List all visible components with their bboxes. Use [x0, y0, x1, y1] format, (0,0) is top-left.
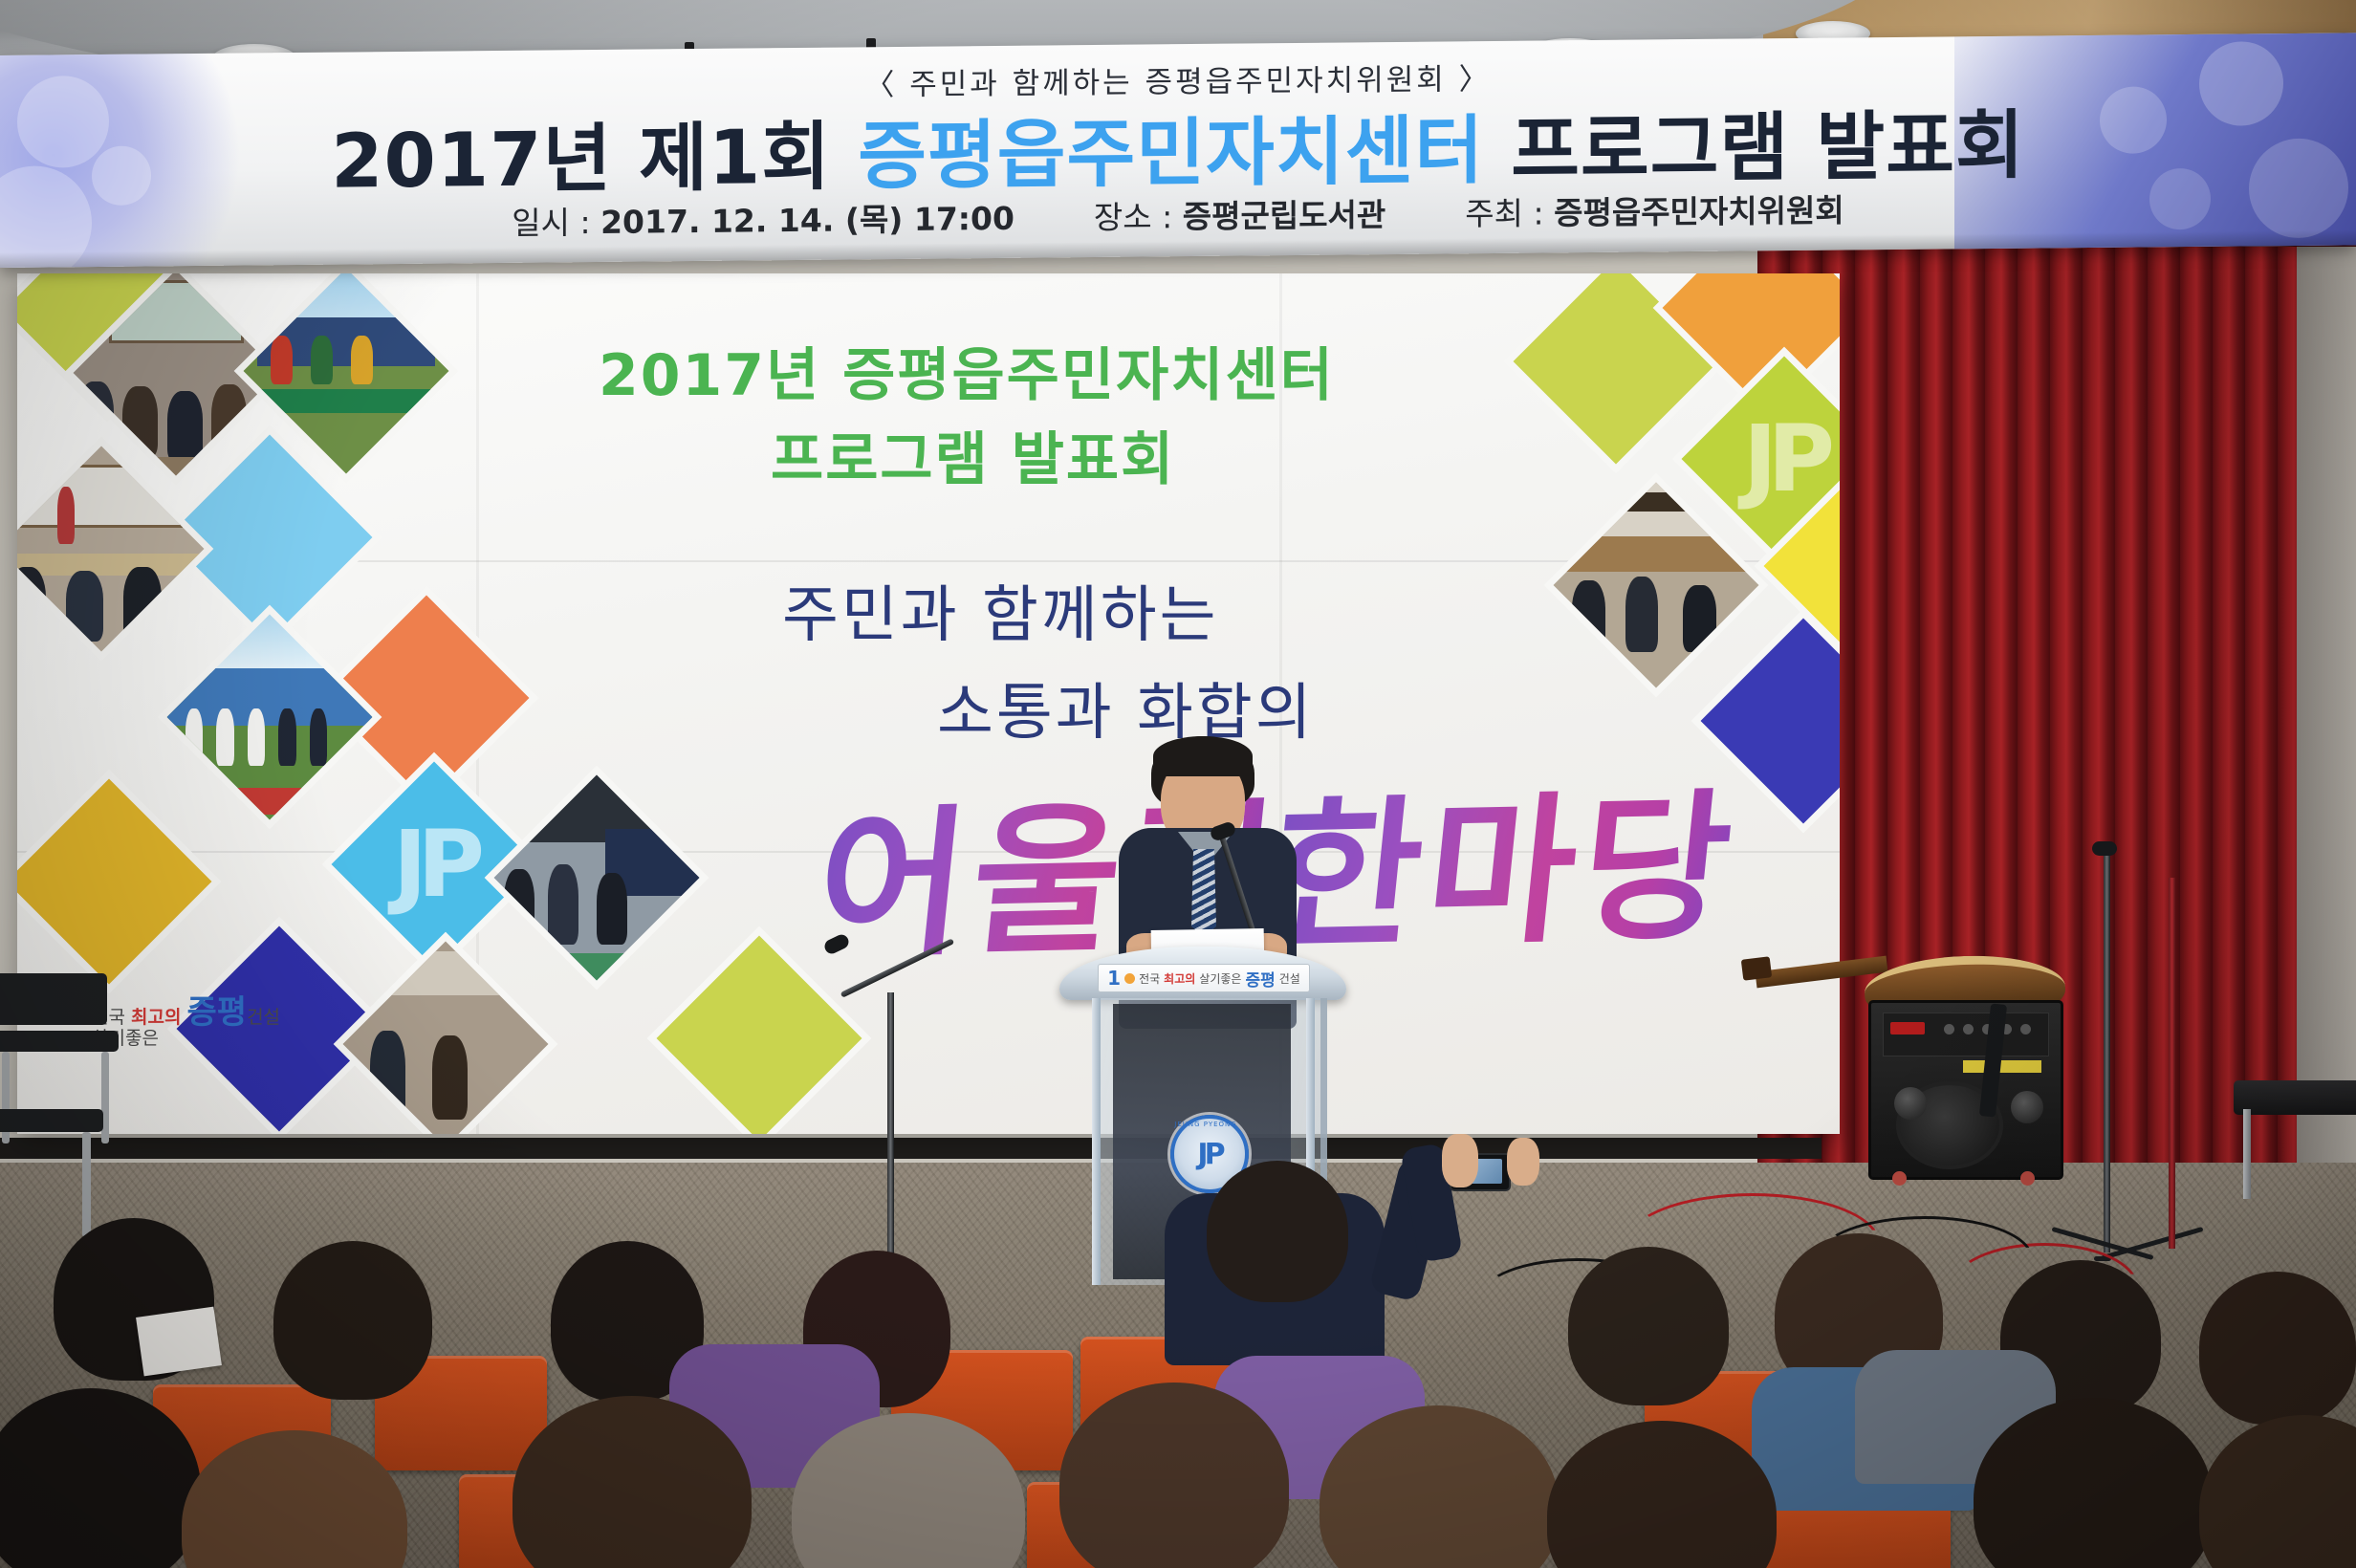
banner-title-highlight: 증평읍주민자치센터: [858, 108, 1484, 200]
amp-knob: [1963, 1024, 1974, 1034]
jp-logo-mark: JP: [1743, 405, 1825, 512]
amp-control-panel: [1883, 1013, 2049, 1056]
podium-logo-red: 최고의: [1164, 970, 1195, 987]
podium-emblem-text: JEUNG PYEONG: [1170, 1121, 1241, 1128]
banner-diamond-photo: [494, 775, 700, 981]
banner-diamond-photo: [343, 942, 549, 1134]
stage-chair: [0, 1052, 105, 1166]
speaker-necktie-visible: [1191, 849, 1216, 937]
backdrop-navy-line1: 주민과 함께하는: [782, 566, 1219, 654]
amp-label-strip: [1963, 1060, 2041, 1073]
podium-emblem-mark: JP: [1197, 1138, 1221, 1171]
chair-leg: [82, 1132, 91, 1237]
amp-tweeter: [2011, 1091, 2043, 1123]
podium-logo-dot: [1124, 973, 1135, 984]
microphone-head: [2092, 841, 2117, 856]
audience-head: [2199, 1272, 2356, 1425]
logo-text-blue: 증평: [187, 993, 248, 1032]
audience-handout-paper: [136, 1307, 222, 1377]
amp-knob: [1944, 1024, 1954, 1034]
banner-diamond-photo: [17, 446, 204, 652]
pa-amplifier: [1868, 1000, 2063, 1180]
logo-text-gray: 건설: [247, 1007, 280, 1028]
podium-logo-top: 전국: [1139, 970, 1160, 987]
chair-backrest: [0, 973, 107, 1025]
amp-caster-wheel: [1892, 1171, 1907, 1186]
speaker-hair-top: [1153, 736, 1253, 776]
mic-stand: [2169, 878, 2175, 1249]
podium-logo-number: 1: [1107, 967, 1121, 990]
banner-host-value: 증평읍주민자치위원회: [1554, 191, 1844, 231]
photo-scene: JP J: [0, 0, 2356, 1568]
right-wall-strip: [2297, 247, 2356, 1212]
top-title-banner: 〈 주민과 함께하는 증평읍주민자치위원회 〉 2017년 제1회 증평읍주민자…: [0, 33, 2356, 268]
bench-leg: [2243, 1109, 2251, 1199]
podium-logo-gray: 건설: [1279, 970, 1300, 987]
banner-date-label: 일시 :: [512, 204, 590, 242]
podium-logo-plate: 1 전국 최고의 살기좋은 증평 건설: [1098, 964, 1310, 992]
stage-bench: [2234, 1080, 2356, 1115]
guitar-headstock: [1741, 956, 1772, 980]
audience-recording-head: [1207, 1161, 1348, 1302]
podium-logo-bottom: 살기좋은: [1199, 970, 1241, 987]
calligraphy-right: 한마당: [1263, 737, 1749, 979]
stage-edge: [0, 1138, 1822, 1159]
amp-led-display: [1890, 1022, 1925, 1034]
amp-knob: [2020, 1024, 2031, 1034]
podium-logo-blue: 증평: [1245, 967, 1275, 991]
mic-stand: [2104, 851, 2110, 1252]
amp-caster-wheel: [2020, 1171, 2035, 1186]
banner-diamond-photo: [167, 615, 373, 820]
audience-head: [273, 1241, 432, 1400]
banner-date-value: 2017. 12. 14. (목) 17:00: [600, 200, 1014, 241]
banner-place-label: 장소 :: [1094, 198, 1172, 236]
banner-place-value: 증평군립도서관: [1183, 196, 1386, 235]
audience-hand: [1442, 1134, 1478, 1187]
amp-tweeter: [1894, 1087, 1927, 1120]
backdrop-banner: JP J: [17, 273, 1840, 1134]
banner-title-part2: 프로그램 발표회: [1484, 103, 2025, 194]
jp-logo-mark: JP: [393, 811, 475, 918]
banner-diamond-photo: [1554, 483, 1759, 688]
backdrop-green-line2: 프로그램 발표회: [771, 413, 1175, 496]
banner-host-label: 주최 :: [1465, 195, 1543, 233]
chair-seat: [0, 1031, 119, 1052]
backdrop-green-line1: 2017년 증평읍주민자치센터: [599, 329, 1335, 412]
audience-hand: [1507, 1138, 1539, 1186]
audience-head: [1568, 1247, 1729, 1405]
chair-seat: [0, 1109, 103, 1132]
logo-text-red: 최고의: [131, 1007, 181, 1028]
banner-title-part1: 2017년 제1회: [331, 114, 858, 205]
banner-diamond-color: [17, 779, 211, 985]
podium-leg: [1092, 998, 1101, 1285]
